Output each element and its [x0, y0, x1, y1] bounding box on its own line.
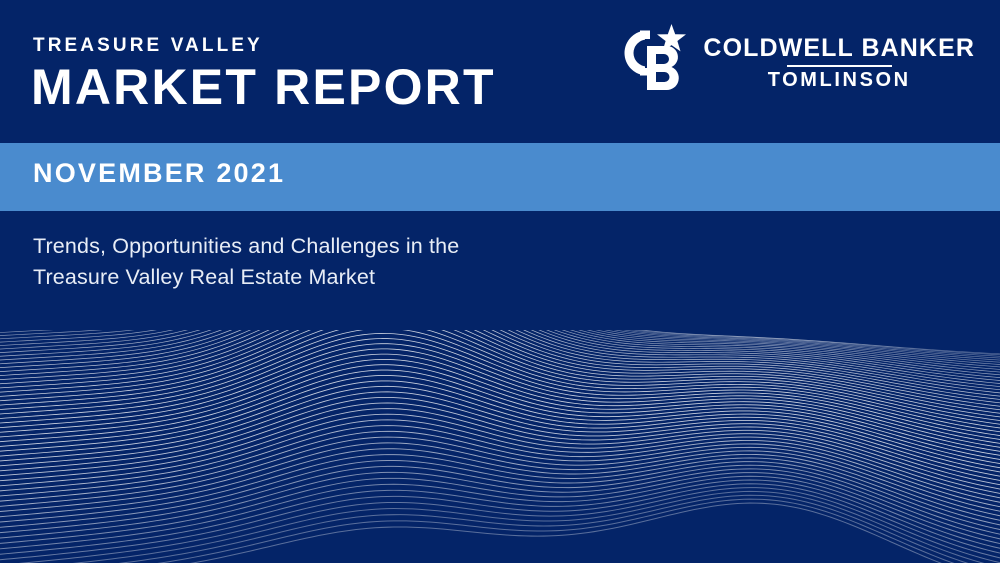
eyebrow-label: TREASURE VALLEY — [33, 36, 263, 55]
wave-line — [0, 420, 1000, 498]
wave-line — [0, 426, 1000, 503]
wave-line — [0, 469, 1000, 539]
wave-line — [0, 330, 1000, 355]
wave-line — [0, 330, 1000, 369]
wave-line — [0, 386, 1000, 472]
wave-line — [0, 330, 1000, 410]
date-accent-band: NOVEMBER 2021 — [0, 143, 1000, 211]
wave-line — [0, 330, 1000, 403]
wave-line — [0, 330, 1000, 367]
wave-line — [0, 330, 1000, 393]
wave-line — [0, 409, 1000, 489]
wave-line — [0, 330, 1000, 375]
brand-logo-lockup: COLDWELL BANKER TOMLINSON — [614, 22, 975, 104]
subtitle-text: Trends, Opportunities and Challenges in … — [33, 231, 459, 293]
wave-line — [0, 330, 1000, 406]
wave-line — [0, 455, 1000, 525]
wave-line — [0, 330, 1000, 365]
wave-line — [0, 480, 1000, 554]
wave-line — [0, 330, 1000, 413]
wave-line — [0, 359, 1000, 451]
wave-line — [0, 437, 1000, 511]
wave-line — [0, 330, 1000, 378]
wave-line — [0, 465, 1000, 534]
brand-wordmark: COLDWELL BANKER TOMLINSON — [703, 35, 975, 91]
wave-line — [0, 330, 1000, 387]
wave-line — [0, 488, 1000, 563]
wave-line — [0, 473, 1000, 544]
wave-line — [0, 375, 1000, 463]
wave-line — [0, 491, 1000, 563]
wave-line — [0, 449, 1000, 521]
wave-line — [0, 370, 1000, 459]
wave-line — [0, 330, 1000, 424]
flowing-line-mesh-wave-graphic — [0, 330, 1000, 563]
wave-line — [0, 354, 1000, 447]
wave-line — [0, 330, 1000, 384]
wave-line — [0, 330, 1000, 356]
wave-line — [0, 397, 1000, 480]
coldwell-banker-cb-star-monogram-icon — [614, 22, 690, 104]
market-report-title-slide: TREASURE VALLEY MARKET REPORT COLDWELL B… — [0, 0, 1000, 563]
wave-line — [0, 495, 1000, 563]
wave-line — [0, 499, 1000, 563]
brand-divider-rule — [787, 65, 892, 67]
wave-line — [0, 330, 1000, 428]
report-date-label: NOVEMBER 2021 — [33, 160, 285, 187]
wave-line — [0, 330, 1000, 372]
page-title: MARKET REPORT — [31, 62, 496, 112]
wave-line — [0, 476, 1000, 549]
wave-line — [0, 330, 1000, 399]
brand-name-primary: COLDWELL BANKER — [703, 35, 975, 61]
wave-line — [0, 330, 1000, 421]
wave-line — [0, 484, 1000, 560]
wave-line — [0, 339, 1000, 436]
wave-line — [0, 344, 1000, 440]
wave-line — [0, 403, 1000, 485]
wave-line — [0, 330, 1000, 381]
wave-line — [0, 503, 1000, 563]
wave-line — [0, 431, 1000, 506]
wave-line — [0, 414, 1000, 493]
wave-line — [0, 330, 1000, 354]
wave-line — [0, 330, 1000, 358]
wave-line — [0, 460, 1000, 529]
wave-line — [0, 330, 1000, 360]
wave-line — [0, 330, 1000, 396]
wave-line — [0, 330, 1000, 390]
wave-line — [0, 365, 1000, 456]
wave-line — [0, 349, 1000, 443]
wave-line — [0, 330, 1000, 362]
wave-line — [0, 333, 1000, 431]
wave-line — [0, 392, 1000, 476]
wave-line — [0, 330, 1000, 417]
brand-name-secondary: TOMLINSON — [768, 70, 911, 91]
wave-line — [0, 443, 1000, 516]
wave-line — [0, 381, 1000, 468]
